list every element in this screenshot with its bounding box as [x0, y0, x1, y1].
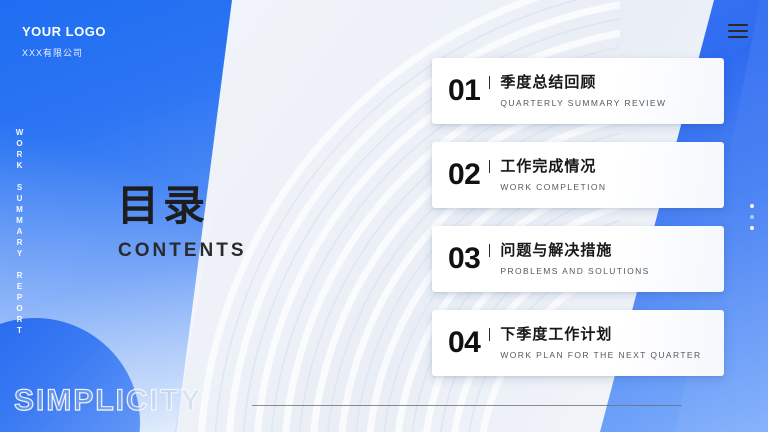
- logo-title: YOUR LOGO: [22, 24, 106, 39]
- item-title-en: WORK PLAN FOR THE NEXT QUARTER: [500, 350, 701, 360]
- pagination-dot-3[interactable]: [750, 226, 754, 230]
- pagination-dots[interactable]: [750, 204, 754, 230]
- item-text-block: 下季度工作计划 WORK PLAN FOR THE NEXT QUARTER: [500, 326, 701, 360]
- item-title-en: QUARTERLY SUMMARY REVIEW: [500, 98, 666, 108]
- pagination-dot-2[interactable]: [750, 215, 754, 219]
- item-separator: [489, 160, 490, 173]
- presentation-slide: YOUR LOGO XXX有限公司 WORK SUMMARY REPORT 目录…: [0, 0, 768, 432]
- item-title-zh: 工作完成情况: [500, 158, 606, 176]
- item-title-zh: 下季度工作计划: [500, 326, 701, 344]
- item-separator: [489, 76, 490, 89]
- item-title-zh: 问题与解决措施: [500, 242, 649, 260]
- list-item[interactable]: 04 下季度工作计划 WORK PLAN FOR THE NEXT QUARTE…: [432, 310, 724, 376]
- item-separator: [489, 328, 490, 341]
- item-title-zh: 季度总结回顾: [500, 74, 666, 92]
- item-number: 02: [448, 160, 480, 190]
- hamburger-menu-icon[interactable]: [728, 24, 748, 38]
- hamburger-line-2: [728, 30, 748, 32]
- item-number: 01: [448, 76, 480, 106]
- page-title-en: CONTENTS: [118, 240, 247, 262]
- item-title-en: WORK COMPLETION: [500, 182, 606, 192]
- pagination-dot-1[interactable]: [750, 204, 754, 208]
- item-text-block: 工作完成情况 WORK COMPLETION: [500, 158, 606, 192]
- hamburger-line-1: [728, 24, 748, 26]
- logo-subtitle: XXX有限公司: [22, 46, 106, 59]
- vertical-report-label: WORK SUMMARY REPORT: [8, 128, 26, 337]
- logo-block: YOUR LOGO XXX有限公司: [22, 24, 106, 59]
- list-item[interactable]: 02 工作完成情况 WORK COMPLETION: [432, 142, 724, 208]
- list-item[interactable]: 03 问题与解决措施 PROBLEMS AND SOLUTIONS: [432, 226, 724, 292]
- page-title-zh: 目录: [117, 172, 209, 233]
- item-text-block: 问题与解决措施 PROBLEMS AND SOLUTIONS: [500, 242, 649, 276]
- watermark-text: SIMPLICITY: [14, 384, 202, 418]
- bottom-divider: [252, 405, 682, 406]
- item-number: 03: [448, 244, 480, 274]
- item-separator: [489, 244, 490, 257]
- list-item[interactable]: 01 季度总结回顾 QUARTERLY SUMMARY REVIEW: [432, 58, 724, 124]
- item-number: 04: [448, 328, 480, 358]
- item-text-block: 季度总结回顾 QUARTERLY SUMMARY REVIEW: [500, 74, 666, 108]
- contents-list: 01 季度总结回顾 QUARTERLY SUMMARY REVIEW 02 工作…: [432, 58, 724, 394]
- item-title-en: PROBLEMS AND SOLUTIONS: [500, 266, 649, 276]
- hamburger-line-3: [728, 36, 748, 38]
